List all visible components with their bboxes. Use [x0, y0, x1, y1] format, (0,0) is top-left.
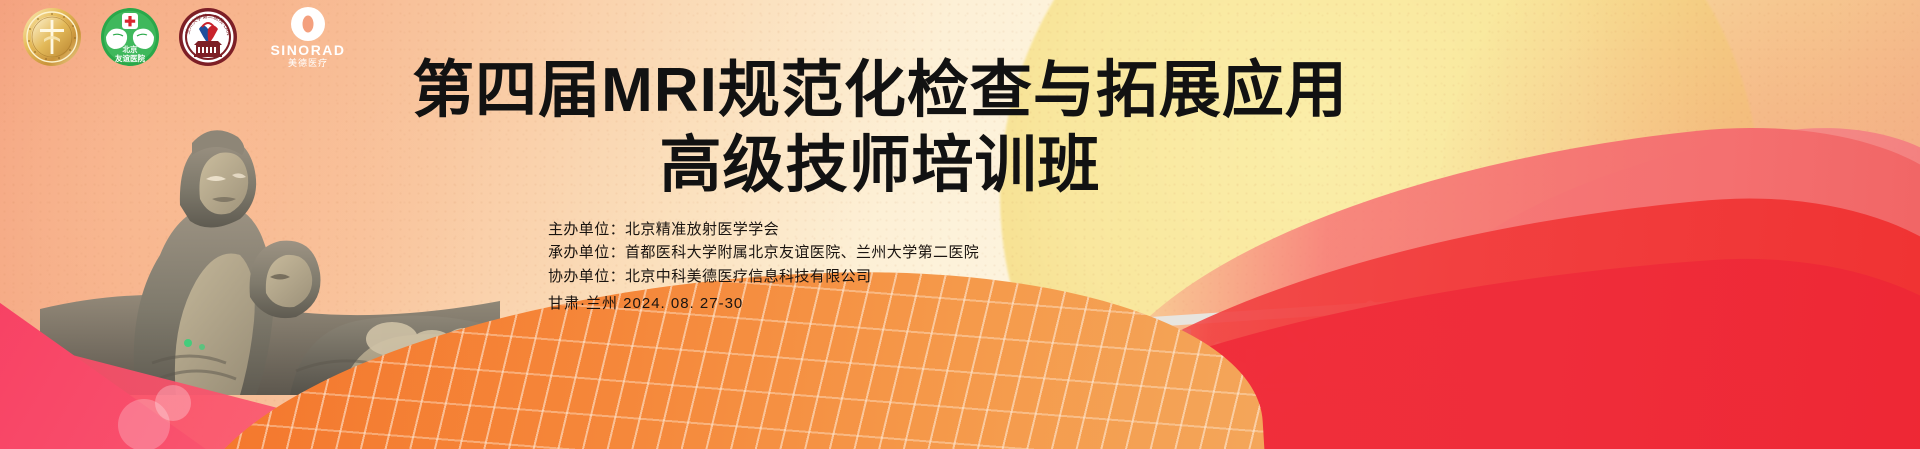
- detail-host: 承办单位：首都医科大学附属北京友谊医院、兰州大学第二医院: [548, 241, 1920, 264]
- detail-coorganizer: 协办单位：北京中科美德医疗信息科技有限公司: [548, 265, 1920, 288]
- detail-location-date: 甘肃·兰州 2024. 08. 27-30: [548, 292, 1920, 315]
- banner-title-line-1: 第四届MRI规范化检查与拓展应用: [0, 58, 1920, 123]
- detail-organizer: 主办单位：北京精准放射医学学会: [548, 218, 1920, 241]
- sinorad-wordmark: SINORAD: [270, 43, 345, 57]
- decor-circle-large: [118, 399, 170, 449]
- banner-text-block: 第四届MRI规范化检查与拓展应用 高级技师培训班 主办单位：北京精准放射医学学会…: [0, 58, 1920, 315]
- conference-banner: 北京 友谊医院 兰州大学第二医院·LANZHOU: [0, 0, 1920, 449]
- svg-text:北京: 北京: [123, 44, 138, 54]
- banner-details: 主办单位：北京精准放射医学学会 承办单位：首都医科大学附属北京友谊医院、兰州大学…: [548, 218, 1920, 315]
- sinorad-eye-icon: [291, 7, 325, 41]
- banner-title-line-2: 高级技师培训班: [0, 133, 1920, 198]
